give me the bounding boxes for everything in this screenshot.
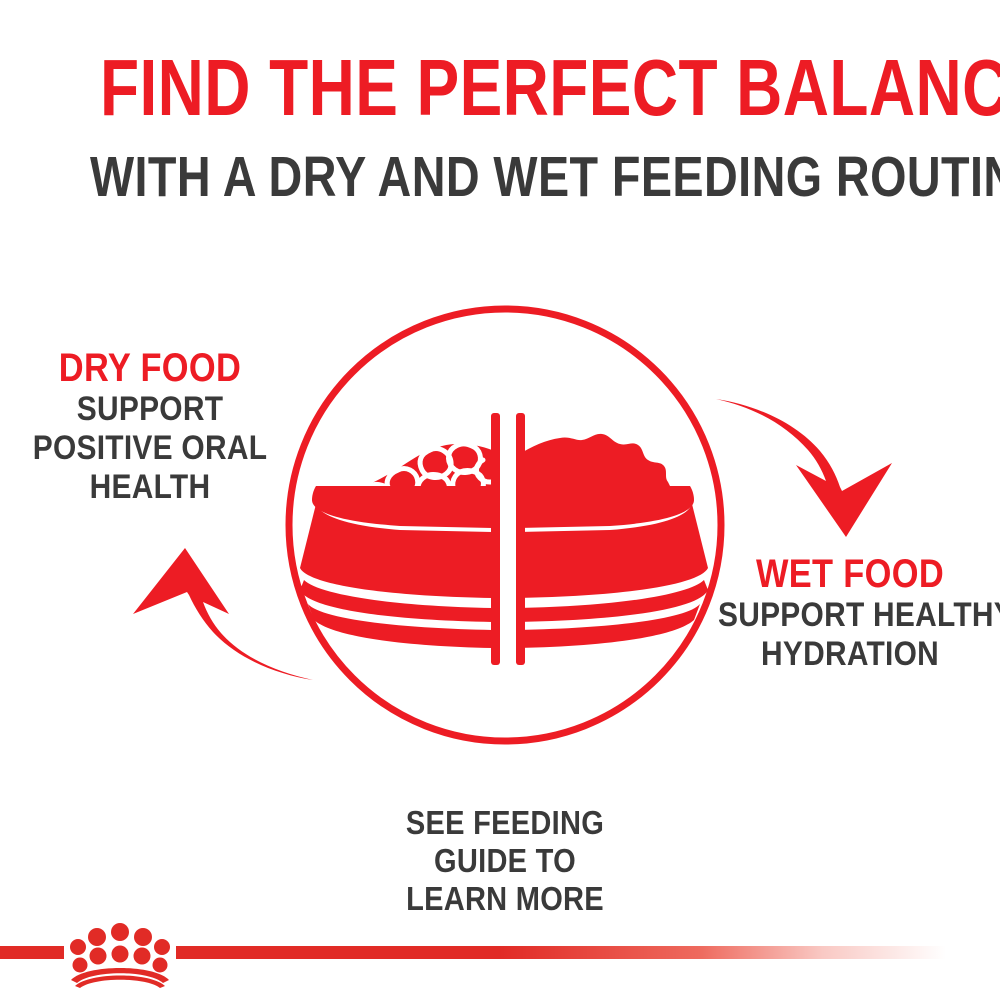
wet-food-title: WET FOOD: [721, 552, 979, 596]
page-subtitle: WITH A DRY AND WET FEEDING ROUTINE: [90, 146, 910, 208]
caption-line-2: GUIDE TO: [325, 842, 686, 880]
bowl-left-half: [300, 444, 500, 648]
divider-bar-right: [516, 413, 525, 665]
royal-canin-crown-logo: [60, 918, 180, 988]
wet-food-label-group: WET FOOD SUPPORT HEALTHY HYDRATION: [700, 552, 1000, 674]
bowl-graphic: [300, 413, 708, 665]
dry-food-title: DRY FOOD: [21, 346, 279, 390]
infographic-page: FIND THE PERFECT BALANCE WITH A DRY AND …: [0, 0, 1000, 1000]
header-block: FIND THE PERFECT BALANCE WITH A DRY AND …: [0, 46, 1000, 208]
divider-bar-left: [491, 413, 500, 665]
wet-food-description: SUPPORT HEALTHY HYDRATION: [718, 596, 982, 674]
wet-food-arrow: [710, 385, 900, 555]
wet-food-line-2: HYDRATION: [718, 635, 982, 674]
bowl-illustration: [270, 300, 740, 760]
curved-arrow-up-left-icon: [133, 548, 313, 680]
footer-bar-right: [176, 946, 946, 959]
caption-line-1: SEE FEEDING: [325, 804, 686, 842]
page-title: FIND THE PERFECT BALANCE: [100, 46, 900, 130]
dry-food-line-3: HEALTH: [18, 468, 282, 507]
curved-arrow-down-right-icon: [716, 399, 892, 537]
bowl-right-half: [518, 434, 708, 648]
wet-food-line-1: SUPPORT HEALTHY: [718, 596, 982, 635]
crown-icon: [70, 923, 170, 988]
dry-food-line-2: POSITIVE ORAL: [18, 429, 282, 468]
dry-food-label-group: DRY FOOD SUPPORT POSITIVE ORAL HEALTH: [0, 346, 300, 507]
dry-food-arrow: [125, 540, 315, 710]
dry-food-description: SUPPORT POSITIVE ORAL HEALTH: [18, 390, 282, 507]
footer: [0, 900, 1000, 1000]
dry-food-line-1: SUPPORT: [18, 390, 282, 429]
footer-bar-left: [0, 946, 64, 959]
